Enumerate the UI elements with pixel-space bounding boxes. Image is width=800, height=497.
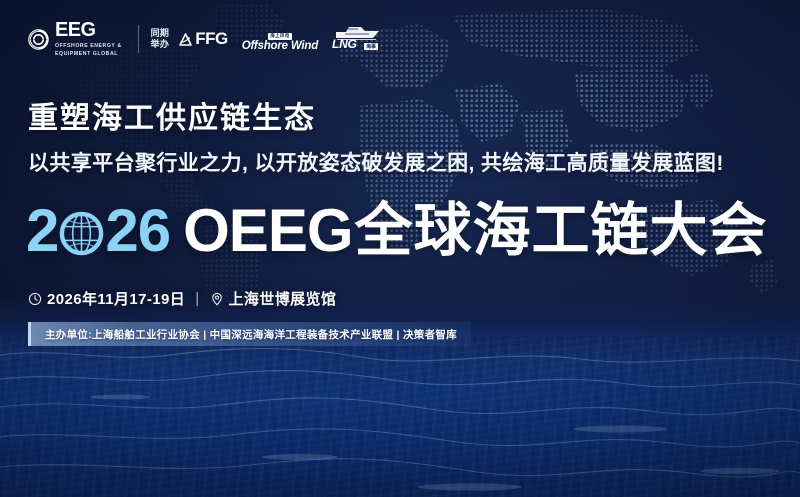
oeeg-logo-subtitle: OFFSHORE ENERGY & EQUIPMENT GLOBAL bbox=[55, 43, 122, 58]
map-pin-icon bbox=[210, 292, 224, 306]
logo-bar: EEG OFFSHORE ENERGY & EQUIPMENT GLOBAL 同… bbox=[28, 18, 380, 60]
hero-title-year-prefix: 2 bbox=[26, 201, 58, 261]
lng-logo-text: LNG bbox=[332, 37, 356, 51]
event-meta: 2026年11月17-19日 | 上海世博展览馆 bbox=[28, 288, 336, 309]
partner-logos: FFG 海上风电 Offshore Wind LNG 海事 bbox=[178, 25, 380, 53]
hero-title-year-suffix: 26 bbox=[105, 201, 170, 261]
banner-content: EEG OFFSHORE ENERGY & EQUIPMENT GLOBAL 同… bbox=[0, 0, 800, 497]
hero-subheadline: 以共享平台聚行业之力, 以开放姿态破发展之困, 共绘海工高质量发展蓝图! bbox=[28, 152, 724, 176]
event-location: 上海世博展览馆 bbox=[210, 288, 337, 309]
cohost-label: 同期 举办 bbox=[151, 28, 170, 51]
partner-logo-ffg[interactable]: FFG bbox=[178, 29, 228, 49]
ffg-triangle-icon bbox=[178, 32, 193, 47]
oeeg-ring-icon bbox=[28, 29, 49, 50]
oeeg-logo-name: EEG bbox=[55, 20, 122, 40]
hero-title-chinese: 全球海工链大会 bbox=[355, 202, 768, 260]
partner-logo-offshore-wind[interactable]: 海上风电 Offshore Wind bbox=[242, 25, 318, 53]
hero-title-english: OEEG bbox=[183, 201, 352, 261]
offshore-wind-tag: 海上风电 bbox=[268, 33, 292, 40]
offshore-wind-text: Offshore Wind bbox=[242, 41, 318, 53]
logo-divider bbox=[138, 25, 139, 53]
organizers-bar: 主办单位:上海船舶工业行业协会 | 中国深远海海洋工程装备技术产业联盟 | 决策… bbox=[28, 322, 471, 346]
hero-headline: 重塑海工供应链生态 bbox=[28, 104, 316, 134]
partner-logo-lng[interactable]: LNG 海事 bbox=[332, 26, 380, 52]
ffg-logo-text: FFG bbox=[195, 29, 228, 49]
hero-title: 2 26 OEEG 全球海工链大会 bbox=[26, 198, 768, 264]
clock-icon bbox=[28, 292, 42, 306]
globe-icon bbox=[57, 209, 106, 258]
event-date-text: 2026年11月17-19日 bbox=[47, 288, 185, 309]
organizers-text: 主办单位:上海船舶工业行业协会 | 中国深远海海洋工程装备技术产业联盟 | 决策… bbox=[45, 327, 457, 342]
lng-logo-suffix: 海事 bbox=[364, 43, 378, 50]
event-date: 2026年11月17-19日 bbox=[28, 288, 185, 309]
oeeg-logo[interactable]: EEG OFFSHORE ENERGY & EQUIPMENT GLOBAL bbox=[28, 20, 122, 58]
event-banner: EEG OFFSHORE ENERGY & EQUIPMENT GLOBAL 同… bbox=[0, 0, 800, 497]
meta-separator: | bbox=[195, 290, 199, 307]
event-location-text: 上海世博展览馆 bbox=[229, 288, 337, 309]
